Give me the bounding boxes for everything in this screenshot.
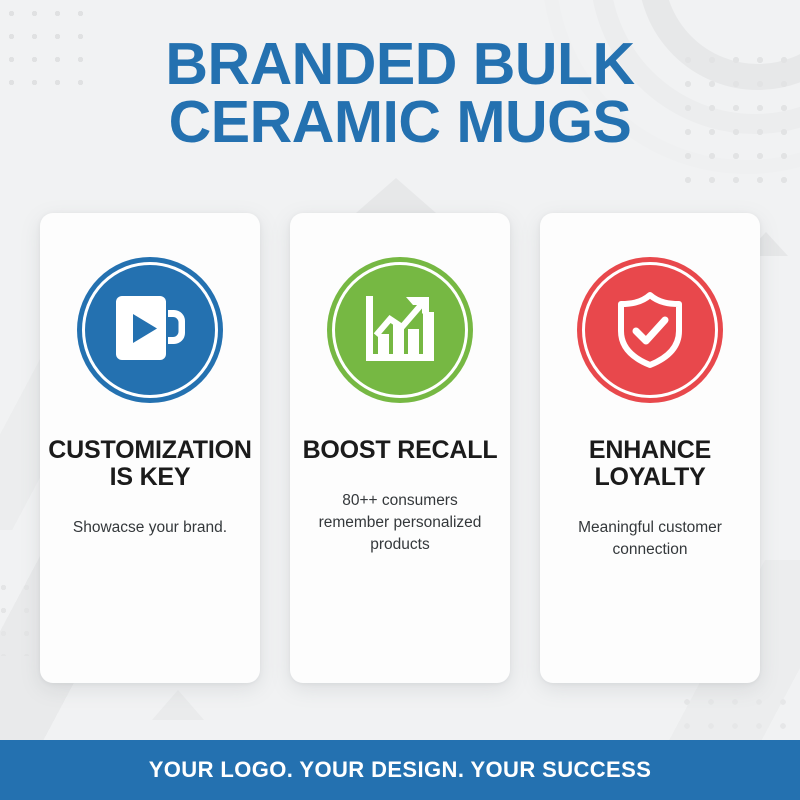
icon-badge-red [577, 257, 723, 403]
feature-card-body: Showacse your brand. [57, 517, 243, 539]
feature-card-body: 80++ consumers remember personalized pro… [290, 490, 510, 556]
shield-check-icon [614, 291, 686, 369]
feature-card-heading: BOOST RECALL [295, 437, 506, 464]
page-title-line-1: BRANDED BULK [165, 31, 634, 97]
feature-card-customization[interactable]: CUSTOMIZATION IS KEY Showacse your brand… [40, 213, 260, 683]
feature-card-heading: CUSTOMIZATION IS KEY [40, 437, 260, 491]
page-title: BRANDED BULK CERAMIC MUGS [0, 36, 800, 152]
feature-card-boost-recall[interactable]: BOOST RECALL 80++ consumers remember per… [290, 213, 510, 683]
icon-badge-green [327, 257, 473, 403]
mug-play-icon [112, 294, 188, 366]
poster-canvas: BRANDED BULK CERAMIC MUGS CUSTOMIZATION … [0, 0, 800, 800]
feature-card-enhance-loyalty[interactable]: ENHANCE LOYALTY Meaningful customer conn… [540, 213, 760, 683]
footer-tagline: YOUR LOGO. YOUR DESIGN. YOUR SUCCESS [149, 757, 652, 783]
triangle-bottom-left-decoration [152, 690, 204, 720]
footer-banner: YOUR LOGO. YOUR DESIGN. YOUR SUCCESS [0, 740, 800, 800]
icon-badge-blue [77, 257, 223, 403]
feature-card-heading: ENHANCE LOYALTY [540, 437, 760, 491]
feature-card-list: CUSTOMIZATION IS KEY Showacse your brand… [0, 213, 800, 685]
bar-chart-growth-icon [361, 294, 439, 366]
page-title-line-2: CERAMIC MUGS [0, 94, 800, 152]
feature-card-body: Meaningful customer connection [540, 517, 760, 561]
